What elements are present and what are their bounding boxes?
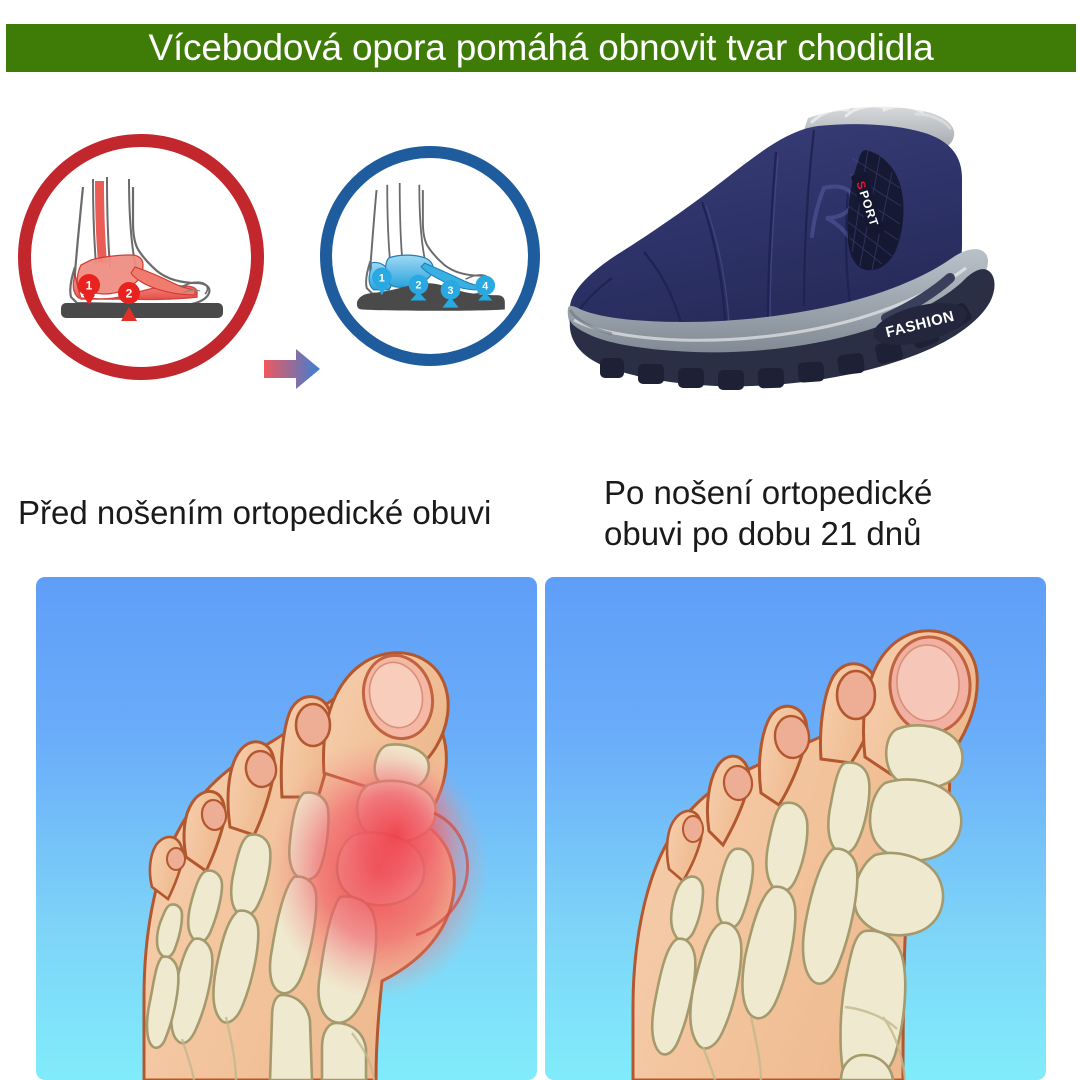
foot-panel-before <box>36 577 537 1080</box>
svg-text:2: 2 <box>415 280 421 292</box>
svg-text:1: 1 <box>379 272 385 284</box>
after-foot-circle: 1 2 3 4 <box>320 146 540 366</box>
caption-after-line2: obuvi po dobu 21 dnů <box>604 513 1044 554</box>
header-banner: Vícebodová opora pomáhá obnovit tvar cho… <box>6 24 1076 72</box>
before-foot-diagram-icon: 1 2 <box>31 147 251 367</box>
top-illustration-row: 1 2 <box>0 84 1080 464</box>
after-foot-diagram-icon: 1 2 3 4 <box>332 158 528 354</box>
caption-after: Po nošení ortopedické obuvi po dobu 21 d… <box>604 472 1044 554</box>
gradient-right-arrow-icon <box>262 346 324 392</box>
bunion-foot-illustration-icon <box>36 577 537 1080</box>
healthy-foot-illustration-icon <box>545 577 1046 1080</box>
before-foot-circle: 1 2 <box>18 134 264 380</box>
svg-text:1: 1 <box>86 279 93 293</box>
svg-text:3: 3 <box>448 285 454 297</box>
caption-before: Před nošením ortopedické obuvi <box>18 492 538 533</box>
svg-text:2: 2 <box>126 287 133 301</box>
foot-panel-after <box>545 577 1046 1080</box>
caption-after-line1: Po nošení ortopedické <box>604 472 1044 513</box>
svg-text:4: 4 <box>482 280 488 292</box>
product-shoe-image: S PORT <box>556 92 1076 462</box>
page-title: Vícebodová opora pomáhá obnovit tvar cho… <box>149 26 934 70</box>
